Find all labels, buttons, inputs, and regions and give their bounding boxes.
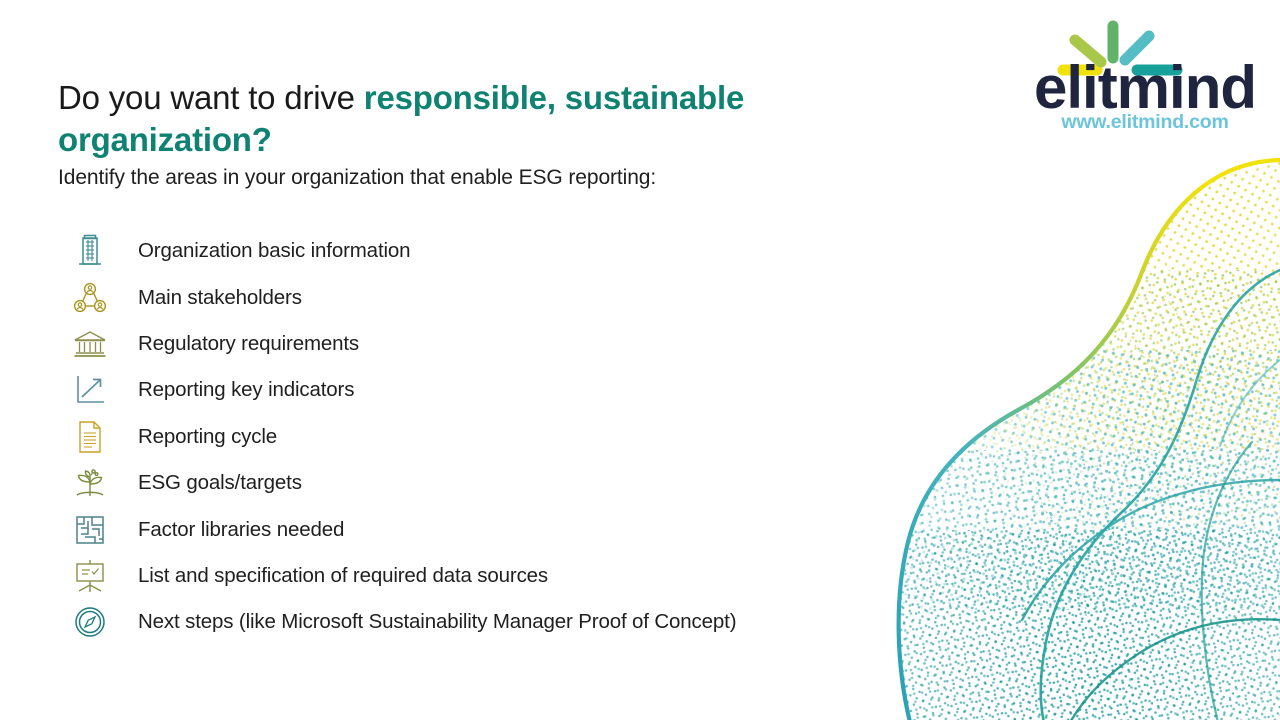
compass-icon (66, 601, 114, 643)
list-item-label: List and specification of required data … (138, 564, 548, 588)
headline-accent-line2: organization? (58, 121, 272, 158)
government-bank-icon (66, 323, 114, 365)
headline-plain: Do you want to drive (58, 79, 364, 116)
list-item-label: Regulatory requirements (138, 332, 359, 356)
growth-chart-arrow-icon (66, 369, 114, 411)
list-item-label: Reporting key indicators (138, 378, 354, 402)
list-item: Reporting key indicators (66, 367, 946, 413)
page-title: Do you want to drive responsible, sustai… (58, 77, 858, 161)
document-report-icon (66, 416, 114, 458)
office-building-icon (66, 230, 114, 272)
list-item: Regulatory requirements (66, 321, 946, 367)
list-item: Main stakeholders (66, 274, 946, 320)
list-item: Next steps (like Microsoft Sustainabilit… (66, 599, 946, 645)
list-item: Organization basic information (66, 228, 946, 274)
list-item: Factor libraries needed (66, 506, 946, 552)
list-item-label: ESG goals/targets (138, 471, 302, 495)
list-item: List and specification of required data … (66, 553, 946, 599)
list-item: Reporting cycle (66, 414, 946, 460)
elitmind-logo-icon: elitmind (1025, 12, 1265, 117)
list-item-label: Main stakeholders (138, 286, 302, 310)
list-item-label: Reporting cycle (138, 425, 277, 449)
svg-text:elitmind: elitmind (1034, 54, 1256, 117)
brand-logo: elitmind www.elitmind.com (1020, 12, 1270, 134)
headline-accent-line1: responsible, sustainable (364, 79, 744, 116)
list-item-label: Next steps (like Microsoft Sustainabilit… (138, 610, 736, 634)
list-item: ESG goals/targets (66, 460, 946, 506)
plant-sprout-icon (66, 462, 114, 504)
list-item-label: Organization basic information (138, 239, 410, 263)
subtitle: Identify the areas in your organization … (58, 166, 656, 190)
presentation-board-icon (66, 555, 114, 597)
maze-library-icon (66, 509, 114, 551)
esg-area-list: Organization basic information (66, 228, 946, 646)
stakeholders-network-icon (66, 277, 114, 319)
list-item-label: Factor libraries needed (138, 518, 344, 542)
slide-canvas: elitmind www.elitmind.com Do you want to… (0, 0, 1280, 720)
